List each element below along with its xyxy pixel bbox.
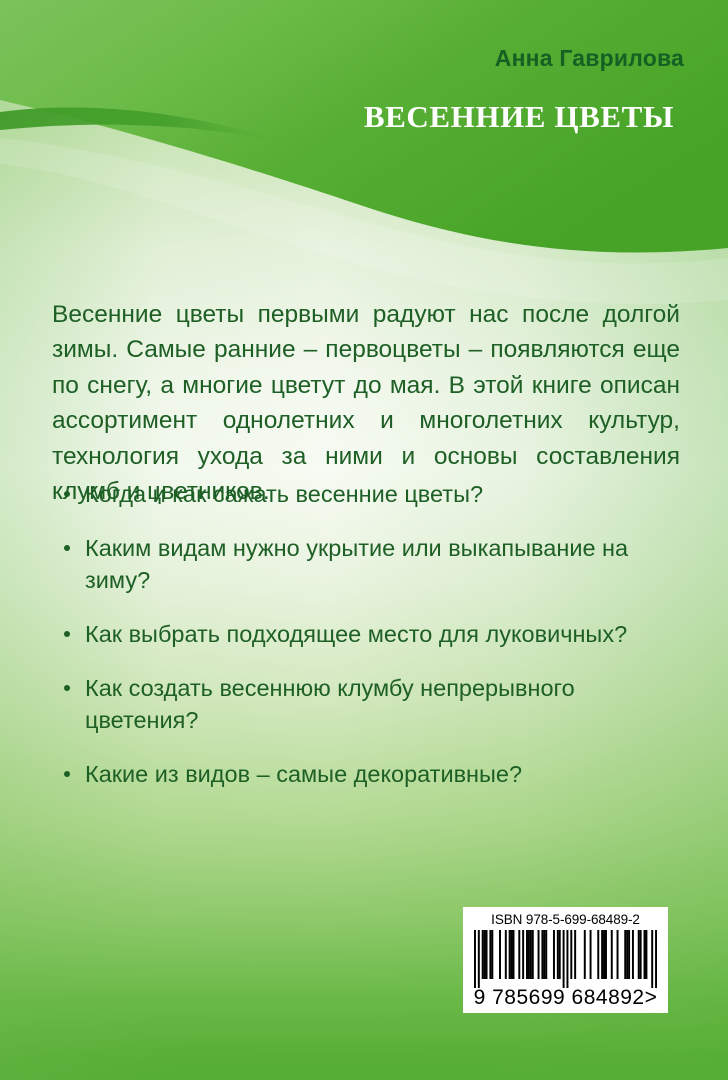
isbn-label: ISBN 978-5-699-68489-2 bbox=[491, 912, 640, 927]
book-back-cover: Анна Гаврилова ВЕСЕННИЕ ЦВЕТЫ Весенние ц… bbox=[0, 0, 728, 1080]
list-item: Когда и как сажать весенние цветы? bbox=[63, 478, 683, 510]
bullet-dot bbox=[64, 491, 70, 497]
list-item-label: Какие из видов – самые декоративные? bbox=[85, 761, 522, 787]
list-item: Как создать весеннюю клумбу непрерывного… bbox=[63, 672, 683, 736]
bullet-dot bbox=[64, 771, 70, 777]
isbn-barcode-block: ISBN 978-5-699-68489-2 9 785699 684892> bbox=[463, 907, 668, 1013]
list-item-label: Как создать весеннюю клумбу непрерывного… bbox=[85, 675, 575, 733]
list-item-label: Каким видам нужно укрытие или выкапывани… bbox=[85, 535, 628, 593]
bullet-dot bbox=[64, 631, 70, 637]
list-item: Каким видам нужно укрытие или выкапывани… bbox=[63, 532, 683, 596]
list-item-label: Когда и как сажать весенние цветы? bbox=[85, 481, 483, 507]
list-item-label: Как выбрать подходящее место для лукович… bbox=[85, 621, 627, 647]
bullet-dot bbox=[64, 685, 70, 691]
barcode-bars-icon bbox=[474, 930, 657, 988]
author-name: Анна Гаврилова bbox=[495, 45, 684, 72]
bullet-dot bbox=[64, 545, 70, 551]
list-item: Какие из видов – самые декоративные? bbox=[63, 758, 683, 790]
feature-bullet-list: Когда и как сажать весенние цветы? Каким… bbox=[63, 478, 683, 790]
book-title: ВЕСЕННИЕ ЦВЕТЫ bbox=[364, 99, 674, 135]
list-item: Как выбрать подходящее место для лукович… bbox=[63, 618, 683, 650]
barcode-digits: 9 785699 684892> bbox=[474, 987, 658, 1009]
